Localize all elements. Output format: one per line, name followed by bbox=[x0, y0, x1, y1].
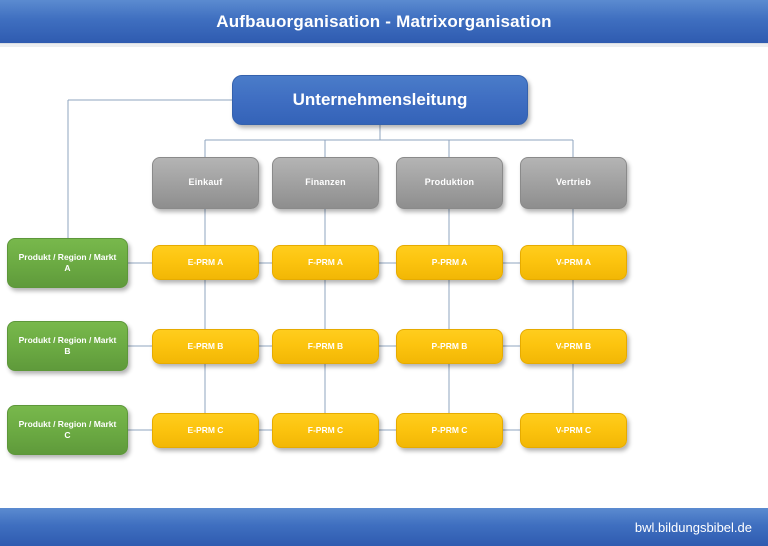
node-cell-label: P-PRM B bbox=[432, 341, 468, 352]
node-dimension-suffix: B bbox=[64, 346, 70, 357]
node-dimension-c[interactable]: Produkt / Region / Markt C bbox=[7, 405, 128, 455]
node-department-label: Vertrieb bbox=[556, 177, 591, 188]
node-cell-v-prm-b[interactable]: V-PRM B bbox=[520, 329, 627, 364]
node-root-label: Unternehmensleitung bbox=[293, 89, 468, 110]
node-cell-f-prm-c[interactable]: F-PRM C bbox=[272, 413, 379, 448]
node-cell-p-prm-a[interactable]: P-PRM A bbox=[396, 245, 503, 280]
node-department-vertrieb[interactable]: Vertrieb bbox=[520, 157, 627, 209]
node-cell-label: F-PRM B bbox=[308, 341, 343, 352]
node-cell-label: F-PRM C bbox=[308, 425, 343, 436]
node-dimension-label: Produkt / Region / Markt bbox=[19, 335, 117, 346]
node-dimension-suffix: C bbox=[64, 430, 70, 441]
node-cell-p-prm-c[interactable]: P-PRM C bbox=[396, 413, 503, 448]
node-cell-label: E-PRM A bbox=[188, 257, 224, 268]
node-cell-label: V-PRM B bbox=[556, 341, 591, 352]
node-cell-label: E-PRM B bbox=[188, 341, 224, 352]
node-cell-label: V-PRM C bbox=[556, 425, 591, 436]
node-department-produktion[interactable]: Produktion bbox=[396, 157, 503, 209]
node-cell-p-prm-b[interactable]: P-PRM B bbox=[396, 329, 503, 364]
footer-source-label: bwl.bildungsbibel.de bbox=[635, 520, 752, 535]
node-dimension-b[interactable]: Produkt / Region / Markt B bbox=[7, 321, 128, 371]
node-department-einkauf[interactable]: Einkauf bbox=[152, 157, 259, 209]
node-cell-label: E-PRM C bbox=[188, 425, 224, 436]
node-department-label: Produktion bbox=[425, 177, 475, 188]
node-dimension-label: Produkt / Region / Markt bbox=[19, 419, 117, 430]
node-cell-f-prm-b[interactable]: F-PRM B bbox=[272, 329, 379, 364]
page-title: Aufbauorganisation - Matrixorganisation bbox=[216, 12, 552, 32]
node-department-label: Einkauf bbox=[189, 177, 223, 188]
node-cell-e-prm-c[interactable]: E-PRM C bbox=[152, 413, 259, 448]
node-cell-f-prm-a[interactable]: F-PRM A bbox=[272, 245, 379, 280]
node-root-unternehmensleitung[interactable]: Unternehmensleitung bbox=[232, 75, 528, 125]
node-department-finanzen[interactable]: Finanzen bbox=[272, 157, 379, 209]
node-cell-e-prm-a[interactable]: E-PRM A bbox=[152, 245, 259, 280]
node-cell-v-prm-c[interactable]: V-PRM C bbox=[520, 413, 627, 448]
footer-bar: bwl.bildungsbibel.de bbox=[0, 508, 768, 546]
node-cell-label: F-PRM A bbox=[308, 257, 343, 268]
node-cell-label: P-PRM A bbox=[432, 257, 468, 268]
node-dimension-label: Produkt / Region / Markt bbox=[19, 252, 117, 263]
node-department-label: Finanzen bbox=[305, 177, 346, 188]
node-dimension-suffix: A bbox=[64, 263, 70, 274]
node-cell-v-prm-a[interactable]: V-PRM A bbox=[520, 245, 627, 280]
header-bar: Aufbauorganisation - Matrixorganisation bbox=[0, 0, 768, 44]
node-cell-e-prm-b[interactable]: E-PRM B bbox=[152, 329, 259, 364]
node-cell-label: V-PRM A bbox=[556, 257, 591, 268]
diagram-canvas: Unternehmensleitung Einkauf Finanzen Pro… bbox=[0, 47, 768, 508]
node-cell-label: P-PRM C bbox=[432, 425, 468, 436]
node-dimension-a[interactable]: Produkt / Region / Markt A bbox=[7, 238, 128, 288]
